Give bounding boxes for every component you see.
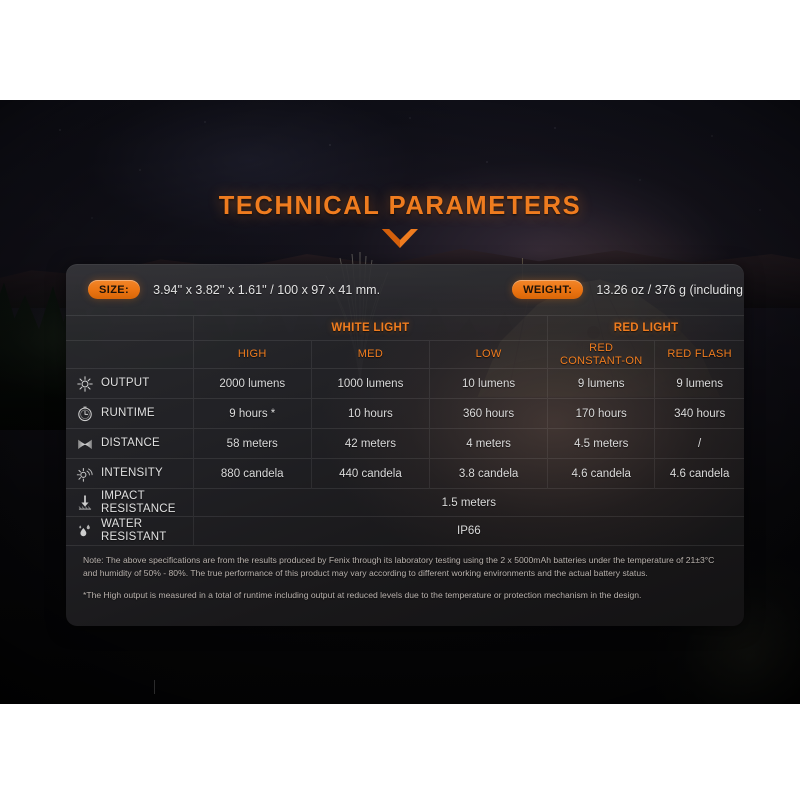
mode-header-row: HIGH MED LOW RED CONSTANT-ON RED FLASH xyxy=(66,341,744,369)
table-row: INTENSITY 880 candela 440 candela 3.8 ca… xyxy=(66,459,744,489)
weight-label: WEIGHT: xyxy=(512,280,583,299)
mode-label: LOW xyxy=(476,348,502,360)
row-label-text: OUTPUT xyxy=(101,377,149,390)
table-row: RUNTIME 9 hours * 10 hours 360 hours 170… xyxy=(66,399,744,429)
cell-intensity-low: 3.8 candela xyxy=(429,459,547,489)
size-weight-row: SIZE: 3.94'' x 3.82'' x 1.61'' / 100 x 9… xyxy=(66,264,744,315)
size-value: 3.94'' x 3.82'' x 1.61'' / 100 x 97 x 41… xyxy=(153,283,380,297)
cell-water-resistant-value: IP66 xyxy=(193,517,744,545)
cell-distance-high: 58 meters xyxy=(193,429,311,459)
row-label-text: WATER RESISTANT xyxy=(101,518,166,544)
cell-distance-red-flash: / xyxy=(655,429,744,459)
size-cell: SIZE: 3.94'' x 3.82'' x 1.61'' / 100 x 9… xyxy=(88,280,380,299)
cell-intensity-med: 440 candela xyxy=(311,459,429,489)
table-row: OUTPUT 2000 lumens 1000 lumens 10 lumens… xyxy=(66,369,744,399)
sun-brightness-icon xyxy=(76,375,94,393)
mode-label: RED FLASH xyxy=(667,348,731,360)
cell-output-red-flash: 9 lumens xyxy=(655,369,744,399)
footnote-block: Note: The above specifications are from … xyxy=(66,545,744,602)
mode-header-red-flash: RED FLASH xyxy=(655,341,744,369)
sun-waves-intensity-icon xyxy=(76,465,94,483)
group-label: RED LIGHT xyxy=(614,322,679,334)
footnote-note: Note: The above specifications are from … xyxy=(83,554,728,580)
page-root: Marmot TECHNICAL PARAMETERS SIZE: 3.94''… xyxy=(0,0,800,800)
mode-label: HIGH xyxy=(238,348,267,360)
light-group-header-row: WHITE LIGHT RED LIGHT xyxy=(66,316,744,341)
mode-header-low: LOW xyxy=(429,341,547,369)
cell-runtime-high: 9 hours * xyxy=(193,399,311,429)
cell-intensity-red-constant-on: 4.6 candela xyxy=(548,459,655,489)
clock-icon xyxy=(76,405,94,423)
table-row: IMPACT RESISTANCE 1.5 meters xyxy=(66,489,744,517)
beam-distance-icon xyxy=(76,435,94,453)
mode-header-med: MED xyxy=(311,341,429,369)
group-header-red-light: RED LIGHT xyxy=(548,316,744,341)
cell-output-high: 2000 lumens xyxy=(193,369,311,399)
row-label-text: RUNTIME xyxy=(101,407,155,420)
row-label-impact-resistance: IMPACT RESISTANCE xyxy=(66,489,193,517)
row-label-intensity: INTENSITY xyxy=(66,459,193,489)
water-drop-icon xyxy=(76,522,94,540)
weight-cell: WEIGHT: 13.26 oz / 376 g (including batt… xyxy=(512,280,744,299)
row-label-text: INTENSITY xyxy=(101,467,163,480)
weight-value: 13.26 oz / 376 g (including battery). xyxy=(596,283,744,297)
mode-header-high: HIGH xyxy=(193,341,311,369)
mode-label: MED xyxy=(358,348,383,360)
cell-output-red-constant-on: 9 lumens xyxy=(548,369,655,399)
cell-output-med: 1000 lumens xyxy=(311,369,429,399)
table-row: WATER RESISTANT IP66 xyxy=(66,517,744,545)
footnote-asterisk: *The High output is measured in a total … xyxy=(83,589,728,602)
page-mark xyxy=(154,680,155,694)
cell-distance-med: 42 meters xyxy=(311,429,429,459)
cell-intensity-red-flash: 4.6 candela xyxy=(655,459,744,489)
mode-label: RED CONSTANT-ON xyxy=(560,342,643,367)
specification-table: WHITE LIGHT RED LIGHT HIGH MED LOW RED C… xyxy=(66,315,744,545)
cell-distance-red-constant-on: 4.5 meters xyxy=(548,429,655,459)
cell-runtime-med: 10 hours xyxy=(311,399,429,429)
group-header-white-light: WHITE LIGHT xyxy=(193,316,547,341)
cell-runtime-low: 360 hours xyxy=(429,399,547,429)
group-spacer xyxy=(66,316,193,341)
row-label-water-resistant: WATER RESISTANT xyxy=(66,517,193,545)
group-label: WHITE LIGHT xyxy=(331,322,409,334)
mode-header-red-constant-on: RED CONSTANT-ON xyxy=(548,341,655,369)
cell-output-low: 10 lumens xyxy=(429,369,547,399)
spec-panel: SIZE: 3.94'' x 3.82'' x 1.61'' / 100 x 9… xyxy=(66,264,744,626)
row-label-output: OUTPUT xyxy=(66,369,193,399)
cell-runtime-red-flash: 340 hours xyxy=(655,399,744,429)
row-label-text: DISTANCE xyxy=(101,437,160,450)
cell-intensity-high: 880 candela xyxy=(193,459,311,489)
table-row: DISTANCE 58 meters 42 meters 4 meters 4.… xyxy=(66,429,744,459)
chevron-down-icon xyxy=(381,228,419,250)
row-label-text: IMPACT RESISTANCE xyxy=(101,490,176,516)
impact-arrow-icon xyxy=(76,494,94,512)
cell-distance-low: 4 meters xyxy=(429,429,547,459)
row-label-distance: DISTANCE xyxy=(66,429,193,459)
cell-impact-resistance-value: 1.5 meters xyxy=(193,489,744,517)
row-label-runtime: RUNTIME xyxy=(66,399,193,429)
mode-spacer xyxy=(66,341,193,369)
size-label: SIZE: xyxy=(88,280,140,299)
cell-runtime-red-constant-on: 170 hours xyxy=(548,399,655,429)
